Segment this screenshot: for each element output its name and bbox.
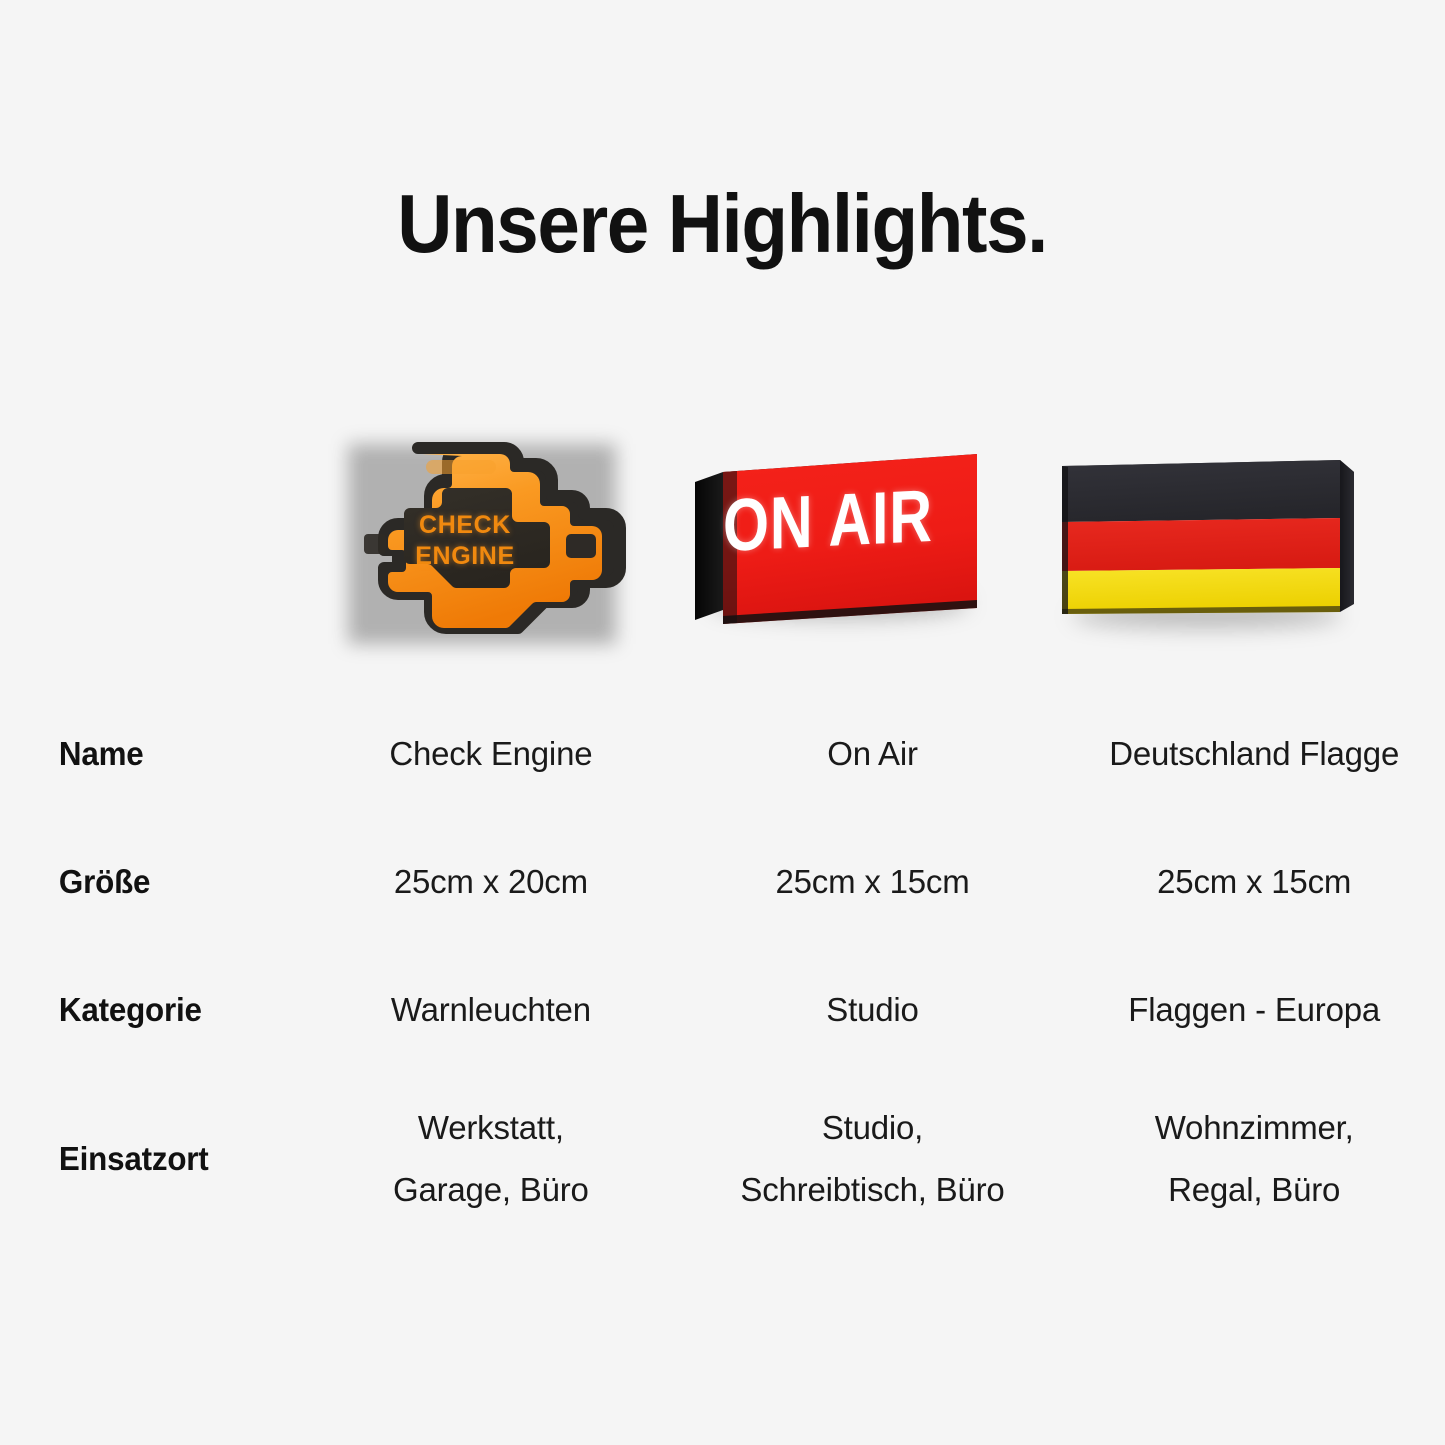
cell-einsatzort-on-air: Studio, Schreibtisch, Büro: [682, 1074, 1064, 1244]
table-row-groesse: Größe 25cm x 20cm 25cm x 15cm 25cm x 15c…: [0, 818, 1445, 946]
row-header-cell-name: Name: [0, 690, 300, 818]
cell-einsatzort-deutschland-flagge-line1: Wohnzimmer,: [1063, 1097, 1445, 1159]
cell-einsatzort-deutschland-flagge: Wohnzimmer, Regal, Büro: [1063, 1074, 1445, 1244]
germany-flag-box-svg: [1040, 434, 1360, 644]
product-spec-table: Name Check Engine On Air Deutschland Fla…: [0, 690, 1445, 1244]
row-label-einsatzort: Einsatzort: [0, 1139, 209, 1179]
row-header-cell-groesse: Größe: [0, 818, 300, 946]
cell-einsatzort-on-air-line1: Studio,: [682, 1097, 1064, 1159]
row-header-cell-einsatzort: Einsatzort: [0, 1074, 300, 1244]
cell-groesse-on-air: 25cm x 15cm: [682, 818, 1064, 946]
cell-einsatzort-check-engine-line1: Werkstatt,: [300, 1097, 682, 1159]
cell-kategorie-on-air: Studio: [682, 946, 1064, 1074]
cell-einsatzort-deutschland-flagge-line2: Regal, Büro: [1063, 1159, 1445, 1221]
product-image-deutschland-flagge[interactable]: [1020, 398, 1380, 666]
check-engine-lamp-icon[interactable]: CHECK ENGINE: [330, 422, 630, 654]
cell-einsatzort-check-engine-line2: Garage, Büro: [300, 1159, 682, 1221]
cell-groesse-check-engine: 25cm x 20cm: [300, 818, 682, 946]
table-row-name: Name Check Engine On Air Deutschland Fla…: [0, 690, 1445, 818]
page-title-container: Unsere Highlights.: [0, 126, 1445, 320]
cell-kategorie-check-engine: Warnleuchten: [300, 946, 682, 1074]
product-image-row: CHECK ENGINE: [0, 398, 1445, 666]
on-air-box-svg: [687, 438, 993, 638]
highlights-page: Unsere Highlights.: [0, 0, 1445, 1445]
table-row-einsatzort: Einsatzort Werkstatt, Garage, Büro Studi…: [0, 1074, 1445, 1244]
cell-einsatzort-check-engine: Werkstatt, Garage, Büro: [300, 1074, 682, 1244]
row-label-groesse: Größe: [0, 862, 150, 902]
germany-flag-lightbox[interactable]: [1040, 434, 1360, 644]
cell-einsatzort-on-air-line2: Schreibtisch, Büro: [682, 1159, 1064, 1221]
row-label-kategorie: Kategorie: [0, 990, 202, 1030]
product-image-check-engine[interactable]: CHECK ENGINE: [300, 398, 660, 666]
check-engine-svg: [330, 422, 630, 654]
cell-kategorie-deutschland-flagge: Flaggen - Europa: [1063, 946, 1445, 1074]
cell-name-on-air: On Air: [682, 690, 1064, 818]
on-air-lightbox[interactable]: ON AIR: [687, 438, 993, 638]
page-title: Unsere Highlights.: [398, 182, 1048, 265]
table-row-kategorie: Kategorie Warnleuchten Studio Flaggen - …: [0, 946, 1445, 1074]
product-image-on-air[interactable]: ON AIR: [660, 398, 1020, 666]
cell-name-check-engine: Check Engine: [300, 690, 682, 818]
cell-name-deutschland-flagge: Deutschland Flagge: [1063, 690, 1445, 818]
row-label-name: Name: [0, 734, 144, 774]
row-header-cell-kategorie: Kategorie: [0, 946, 300, 1074]
cell-groesse-deutschland-flagge: 25cm x 15cm: [1063, 818, 1445, 946]
